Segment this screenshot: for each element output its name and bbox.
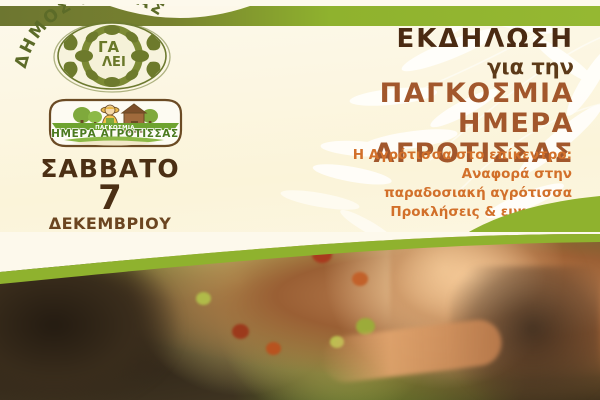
world-farmwoman-day-badge: ΠΑΓΚΟΣΜΙΑ ΗΜΕΡΑ ΑΓΡΟΤΙΣΣΑΣ: [38, 96, 193, 150]
subheading-line-2: Αναφορά στην: [252, 165, 572, 184]
subheading-line-3: παραδοσιακή αγρότισσα: [252, 184, 572, 203]
svg-text:ΓΑ: ΓΑ: [98, 38, 120, 56]
svg-text:ΛΕΙ: ΛΕΙ: [102, 55, 126, 70]
subheading-block: Η Αγρότισσα στο επίκεντρο: Αναφορά στην …: [252, 146, 572, 223]
date-day-number: 7: [10, 181, 210, 215]
photo-cream-wedge: [0, 232, 600, 302]
harvest-photograph: [0, 232, 600, 400]
event-poster: ΔΗΜΟΣ ΗΛΙΔΑΣ: [0, 0, 600, 400]
photo-fruit: [232, 324, 249, 339]
headline-line-event: ΕΚΔΗΛΩΣΗ: [244, 26, 574, 54]
municipality-seal: ΔΗΜΟΣ ΗΛΙΔΑΣ: [14, 4, 204, 108]
photo-fruit: [266, 342, 281, 355]
headline-line-world: ΠΑΓΚΟΣΜΙΑ: [244, 79, 574, 109]
date-month: ΔΕΚΕΜΒΡΙΟΥ: [10, 215, 210, 233]
subheading-line-4: Προκλήσεις & ευκαιρίες: [252, 203, 572, 222]
headline-line-for: για την: [244, 55, 574, 80]
headline-line-day: ΗΜΕΡΑ: [244, 109, 574, 139]
subheading-line-1: Η Αγρότισσα στο επίκεντρο:: [252, 146, 572, 165]
